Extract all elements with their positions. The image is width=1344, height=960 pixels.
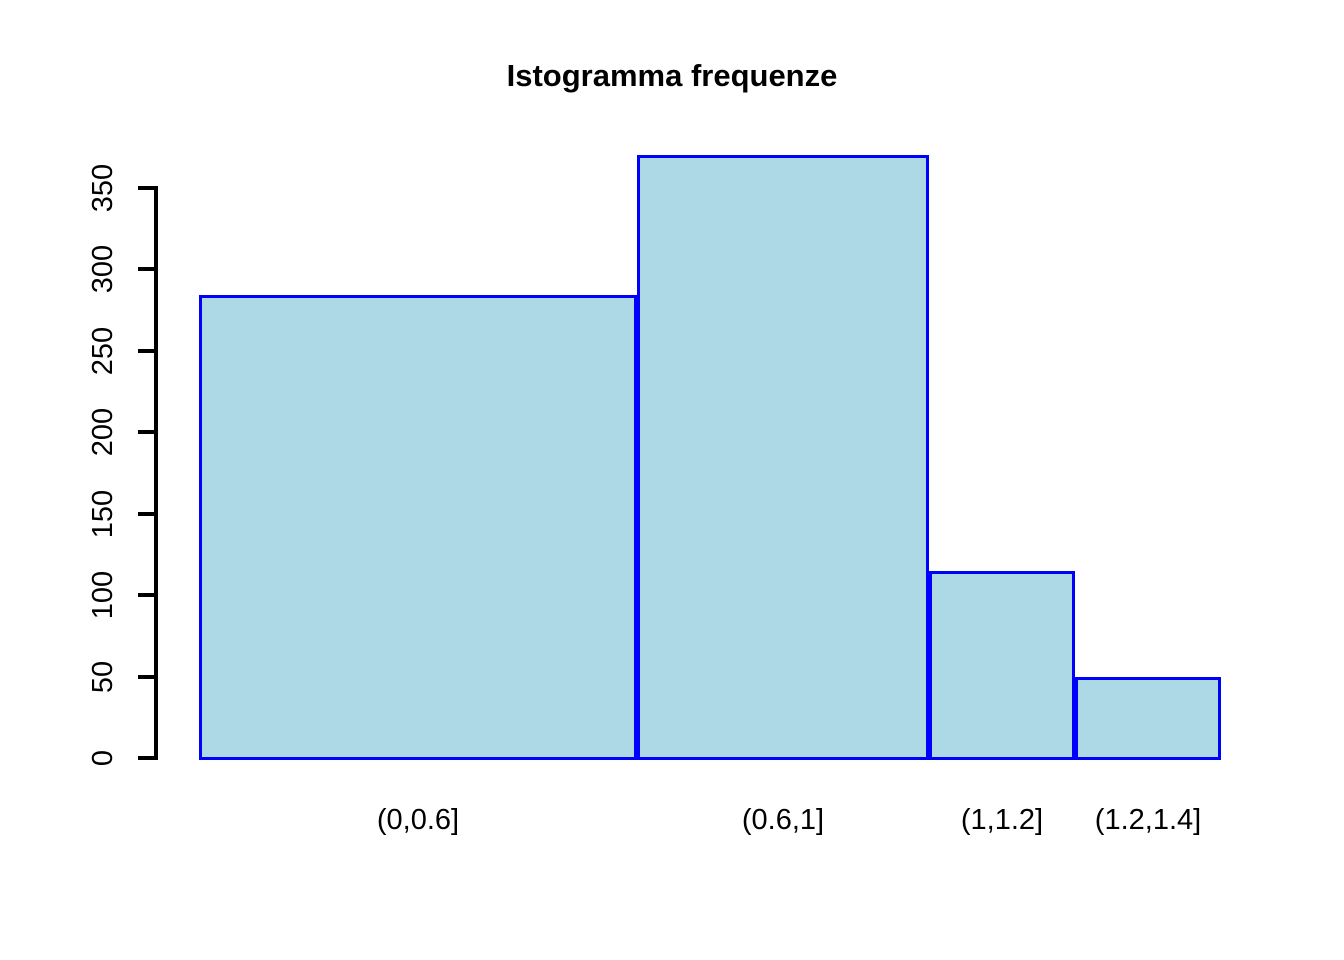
histogram-bar: [929, 571, 1075, 760]
y-axis-tick: [138, 675, 158, 679]
histogram-bar: [1075, 677, 1221, 760]
y-axis-tick: [138, 512, 158, 516]
histogram-plot: Istogramma frequenze 0501001502002503003…: [0, 0, 1344, 960]
x-axis-tick-label: (1.2,1.4]: [1018, 803, 1278, 837]
y-axis-tick: [138, 593, 158, 597]
y-axis-tick: [138, 267, 158, 271]
y-axis-tick-label: 350: [86, 128, 120, 248]
x-axis-tick-label: (0,0.6]: [288, 803, 548, 837]
y-axis-tick: [138, 186, 158, 190]
y-axis-tick: [138, 756, 158, 760]
plot-area: 050100150200250300350 (0,0.6](0.6,1](1,1…: [0, 0, 1344, 960]
y-axis-tick: [138, 349, 158, 353]
histogram-bar: [199, 295, 637, 760]
histogram-bar: [637, 155, 929, 760]
y-axis-tick: [138, 430, 158, 434]
